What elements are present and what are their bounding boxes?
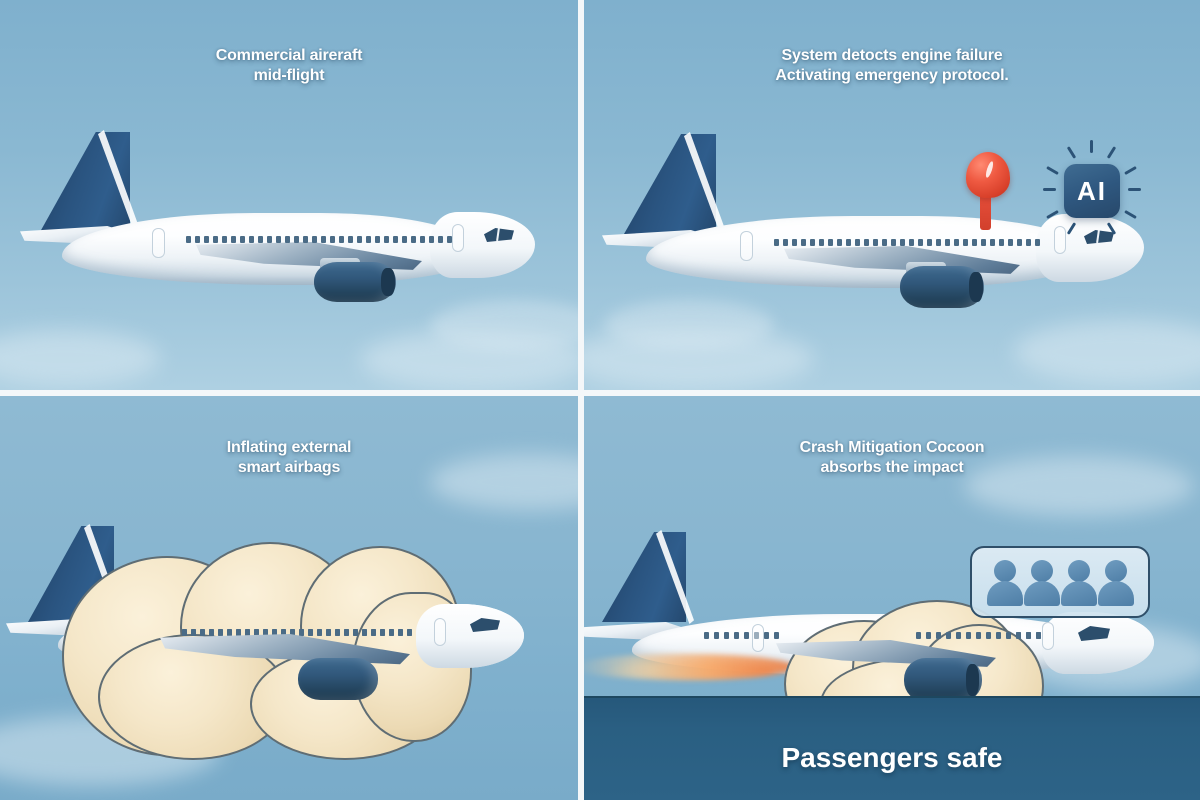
panel-divider-vertical [578,0,584,800]
passenger-head [1068,560,1090,582]
cabin-windows [186,236,452,243]
passenger-body [1098,581,1134,606]
ray-icon [1107,146,1116,159]
ray-icon [1067,146,1076,159]
cabin-door [452,224,464,252]
ray-icon [1046,166,1059,175]
ray-icon [1043,188,1056,191]
alert-beacon [964,152,1020,230]
cabin-door [152,228,165,258]
panel-4-caption: Crash Mitigation Cocoon absorbs the impa… [584,438,1200,479]
passenger-body [1024,581,1060,606]
cabin-windows-overlay [916,632,1051,639]
engine-inlet [381,268,395,296]
cabin-door-overlay [1042,622,1054,650]
ray-icon [1090,140,1093,153]
cabin-door-overlay [434,618,446,646]
passenger-icon [1024,560,1060,606]
panel-1-caption: Commercial aireraft mid-flight [0,46,578,87]
passenger-status-panel [970,546,1150,618]
panel-3-caption: Inflating external smart airbags [0,438,578,479]
nose-cone [430,212,535,278]
passenger-head [994,560,1016,582]
ai-badge: AI [1064,164,1120,218]
engine-inlet [966,664,979,696]
passenger-head [1105,560,1127,582]
panel-2: System detocts engine failure Activating… [584,0,1200,390]
passenger-body [987,581,1023,606]
passenger-icon [987,560,1023,606]
engine-nacelle-overlay [298,658,378,700]
cabin-windows [774,239,1040,246]
storyboard-image: Commercial aireraft mid-flight [0,0,1200,800]
panel-4: Crash Mitigation Cocoon absorbs the impa… [584,396,1200,800]
panel-1: Commercial aireraft mid-flight [0,0,578,390]
ray-icon [1128,188,1141,191]
passenger-body [1061,581,1097,606]
passenger-head [1031,560,1053,582]
ray-icon [1046,210,1059,219]
ray-icon [1067,222,1076,235]
passenger-icon [1098,560,1134,606]
passenger-icon [1061,560,1097,606]
cabin-windows-overlay [182,629,412,636]
panel-divider-horizontal [0,390,1200,396]
ray-icon [1124,210,1137,219]
panel-4-bottom-caption: Passengers safe [584,742,1200,774]
ray-icon [1124,166,1137,175]
cabin-door [740,231,753,261]
ai-alert-indicator: AI [1034,142,1150,242]
panel-2-caption: System detocts engine failure Activating… [584,46,1200,87]
engine-inlet [969,272,983,302]
panel-3: Inflating external smart airbags [0,396,578,800]
ray-icon [1107,222,1116,235]
